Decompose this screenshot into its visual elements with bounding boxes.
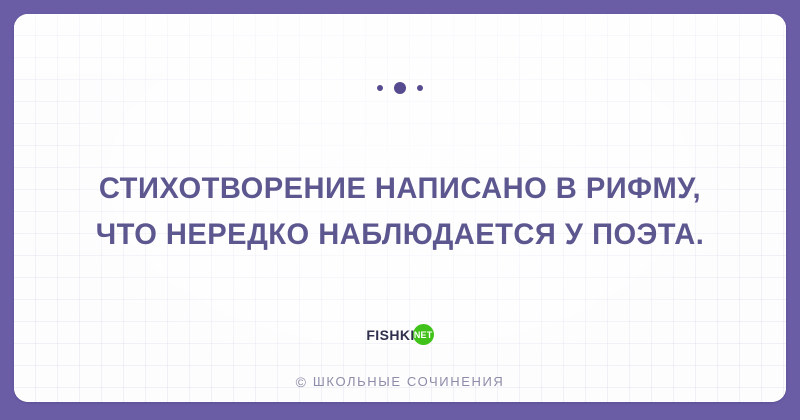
dot-ornament [14,82,786,94]
ornament-dot-center [394,82,406,94]
copyright-icon: © [296,375,306,389]
quote-text-block: СТИХОТВОРЕНИЕ НАПИСАНО В РИФМУ, ЧТО НЕРЕ… [14,166,786,258]
ornament-dot-right [417,85,423,91]
brand-net-badge-icon: NET [413,324,434,345]
fishki-net-logo[interactable]: FISHKI NET [14,324,786,345]
source-caption: © ШКОЛЬНЫЕ СОЧИНЕНИЯ [14,374,786,389]
brand-net-badge-label: NET [414,330,433,340]
quote-line-2: ЧТО НЕРЕДКО НАБЛЮДАЕТСЯ У ПОЭТА. [26,212,775,258]
graph-paper-sheet: СТИХОТВОРЕНИЕ НАПИСАНО В РИФМУ, ЧТО НЕРЕ… [14,14,786,402]
quote-card-frame: СТИХОТВОРЕНИЕ НАПИСАНО В РИФМУ, ЧТО НЕРЕ… [0,0,800,420]
quote-line-1: СТИХОТВОРЕНИЕ НАПИСАНО В РИФМУ, [26,166,775,212]
card-content: СТИХОТВОРЕНИЕ НАПИСАНО В РИФМУ, ЧТО НЕРЕ… [14,14,786,402]
ornament-dot-left [377,85,383,91]
brand-wordmark: FISHKI [366,327,414,343]
source-caption-label: ШКОЛЬНЫЕ СОЧИНЕНИЯ [313,374,504,389]
